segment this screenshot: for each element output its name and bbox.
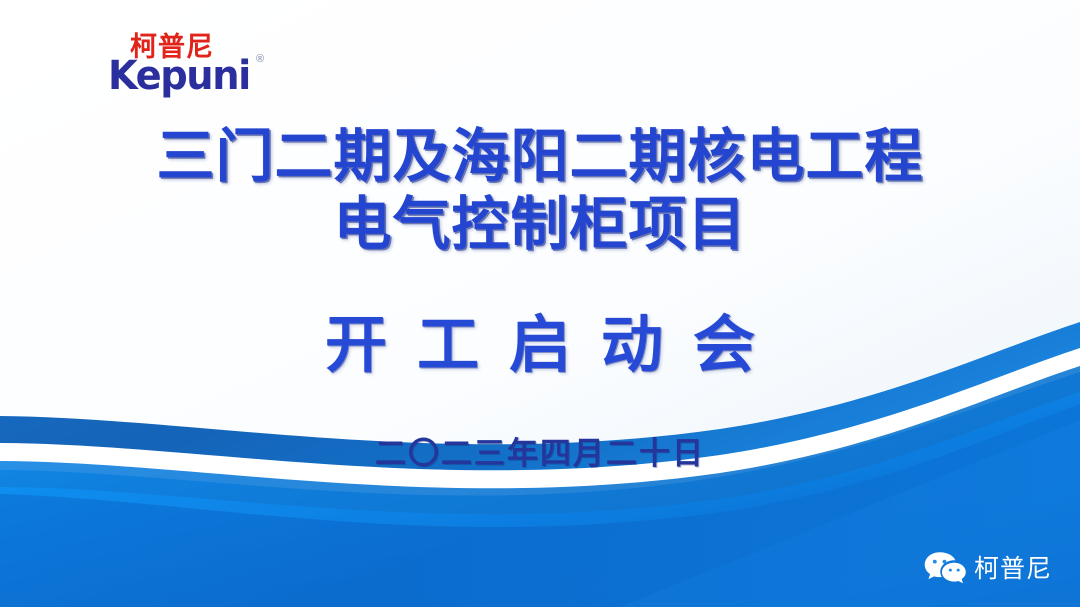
page-title-line-2: 电气控制柜项目 — [0, 190, 1080, 258]
wechat-watermark: 柯普尼 — [924, 551, 1052, 585]
page-title: 三门二期及海阳二期核电工程 电气控制柜项目 — [0, 122, 1080, 259]
company-logo: 柯普尼 ® Kepuni — [108, 34, 298, 106]
page-title-line-1: 三门二期及海阳二期核电工程 — [0, 122, 1080, 190]
poster-canvas: 柯普尼 ® Kepuni 三门二期及海阳二期核电工程 电气控制柜项目 开工启动会… — [0, 0, 1080, 607]
event-name: 开工启动会 — [0, 309, 1080, 380]
logo-latin-wordmark: Kepuni — [108, 56, 250, 96]
event-date: 二〇二三年四月二十日 — [0, 428, 1080, 473]
wechat-icon — [924, 551, 966, 585]
registered-trademark-icon: ® — [256, 54, 264, 65]
wechat-account-name: 柯普尼 — [974, 556, 1052, 581]
